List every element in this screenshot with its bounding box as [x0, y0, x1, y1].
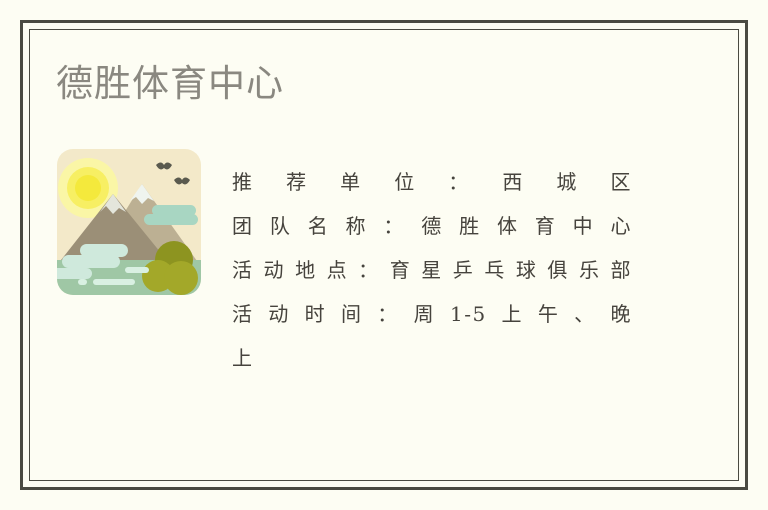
- info-line-activity-place: 活动地点：育星乒乓球俱乐部: [232, 248, 632, 292]
- info-line-activity-time: 活动时间：周1-5上午、晚: [232, 292, 632, 336]
- info-text-block: 推荐单位：西城区 团队名称：德胜体育中心 活动地点：育星乒乓球俱乐部 活动时间：…: [232, 160, 632, 380]
- info-line-recommend-unit: 推荐单位：西城区: [232, 160, 632, 204]
- page-root: 德胜体育中心: [0, 0, 768, 510]
- info-line-team-name: 团队名称：德胜体育中心: [232, 204, 632, 248]
- info-line-activity-time-overflow: 上: [232, 336, 632, 380]
- page-title: 德胜体育中心: [56, 62, 284, 106]
- mountain-landscape-illustration: [56, 148, 202, 296]
